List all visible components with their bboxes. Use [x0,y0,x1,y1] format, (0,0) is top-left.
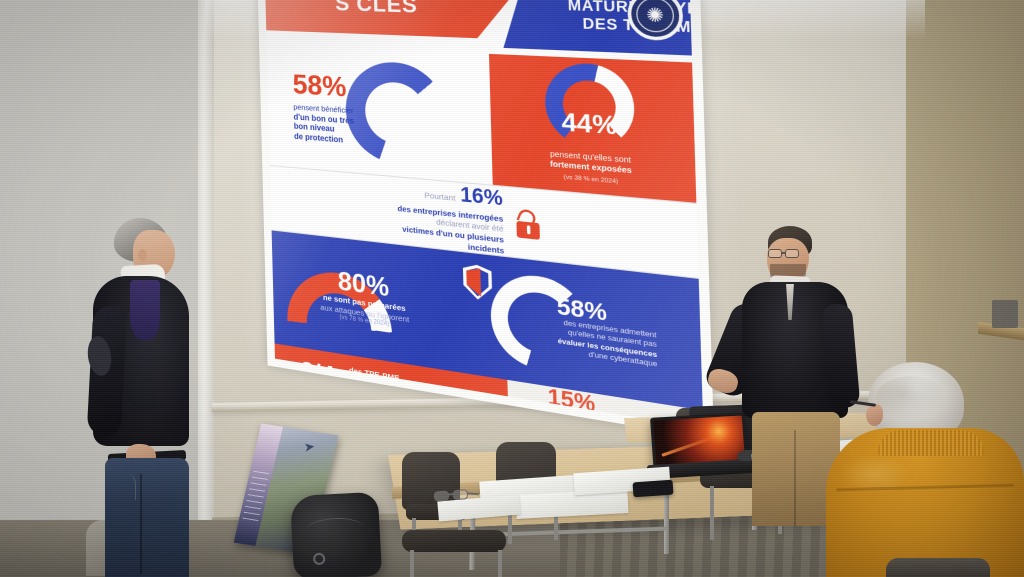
stat-58-protection-donut [344,60,448,168]
ear [866,404,883,426]
jeans-seam [140,474,142,574]
stat-44-exposees-footnote: (vs 38 % en 2024) [564,174,619,185]
table-leg [664,492,669,554]
man-seated-foreground [826,362,1024,577]
stat-44-exposees: 44% pensent qu'elles sont fortement expo… [489,54,696,203]
seal-glyph: ✺ [636,0,675,33]
v-neck-undershirt [130,280,160,340]
header-left-band: S CLÉS [265,0,529,40]
stat-44-exposees-value: 44% [545,108,635,140]
eyeglasses-bridge [781,252,786,254]
projection-screen: S CLÉS MATURITÉ CYBER DES TPE-PME* ✺ 58%… [257,0,714,439]
hair-shading [876,376,946,420]
stat-58-consequences: 58% des entreprises admettent qu'elles n… [478,269,702,394]
photo-scene: S CLÉS MATURITÉ CYBER DES TPE-PME* ✺ 58%… [0,0,1024,577]
banner-bird-graphic: ➤ [303,438,315,455]
smartphone[interactable] [633,480,674,498]
stat-58-protection-value: 58% [292,71,346,102]
stat-58-protection: 58% pensent bénéficier d'un bon ou très … [267,44,493,184]
slide-infographic: S CLÉS MATURITÉ CYBER DES TPE-PME* ✺ 58%… [265,0,703,428]
stat-16-victimes-text: Pourtant 16% des entreprises interrogées… [397,177,505,256]
stat-80-nonpreparees: 80% ne sont pas préparées aux attaques o… [272,261,480,343]
chair[interactable] [402,524,512,577]
stat-16-prefix: Pourtant [424,190,455,203]
stat-44-exposees-text: pensent qu'elles sont fortement exposées [550,149,632,176]
header-left-label: S CLÉS [335,0,448,20]
backpack [290,492,382,577]
sweater-collar-rib [878,430,984,456]
open-padlock-icon [514,208,543,240]
jeans-pocket [114,474,136,500]
stat-58-protection-text: pensent bénéficier d'un bon ou très bon … [293,102,355,146]
donut-hole [364,81,427,146]
eyeglasses-right-lens [785,249,799,258]
eyeglasses-left-lens [768,249,782,258]
stat-16-value: 16% [460,184,503,211]
wall-mounted-box [992,300,1018,328]
stat-44-exposees-donut: 44% [543,62,634,151]
ear [138,249,147,261]
trouser-seam [794,430,796,526]
man-standing-left [88,218,212,577]
chair-backrest[interactable] [886,558,990,577]
